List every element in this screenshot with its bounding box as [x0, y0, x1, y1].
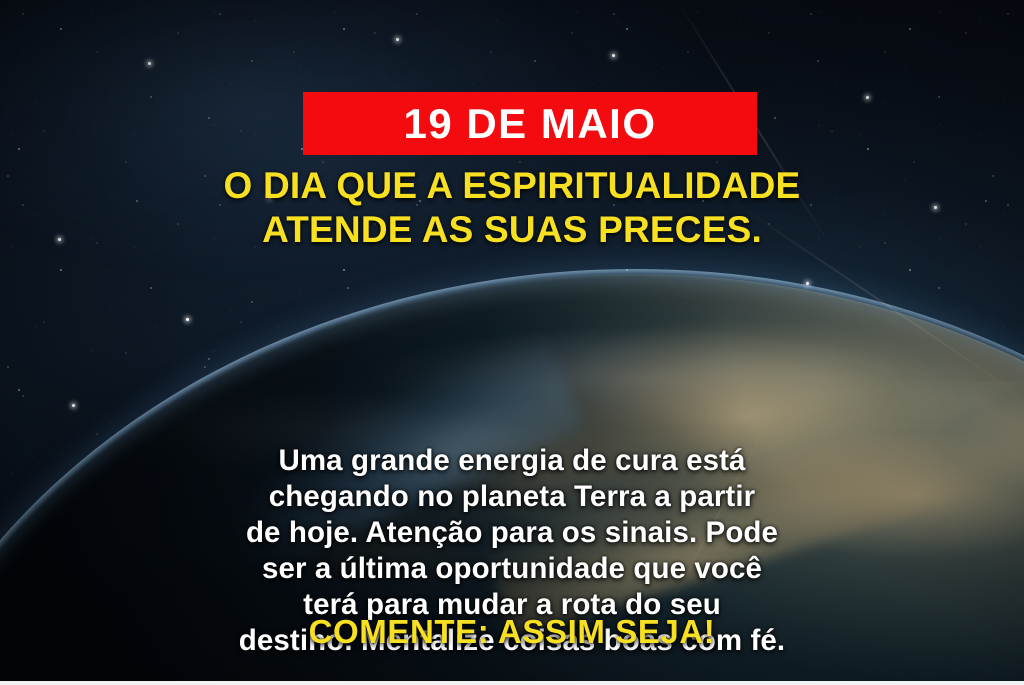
date-banner-label: 19 DE MAIO — [403, 103, 656, 145]
call-to-action-text: COMENTE: ASSIM SEJA! — [0, 613, 1024, 651]
body-line: chegando no planeta Terra a partir — [48, 479, 976, 515]
bottom-edge-strip — [0, 681, 1024, 685]
body-line: Uma grande energia de cura está — [48, 443, 976, 479]
body-line: de hoje. Atenção para os sinais. Pode — [48, 515, 976, 551]
date-banner: 19 DE MAIO — [303, 92, 757, 155]
headline-line-2: ATENDE AS SUAS PRECES. — [34, 208, 990, 252]
poster-content: 19 DE MAIO O DIA QUE A ESPIRITUALIDADE A… — [0, 0, 1024, 685]
headline-line-1: O DIA QUE A ESPIRITUALIDADE — [224, 165, 801, 206]
poster-canvas: 19 DE MAIO O DIA QUE A ESPIRITUALIDADE A… — [0, 0, 1024, 685]
headline: O DIA QUE A ESPIRITUALIDADE ATENDE AS SU… — [0, 164, 1024, 251]
body-line: ser a última oportunidade que você — [48, 551, 976, 587]
